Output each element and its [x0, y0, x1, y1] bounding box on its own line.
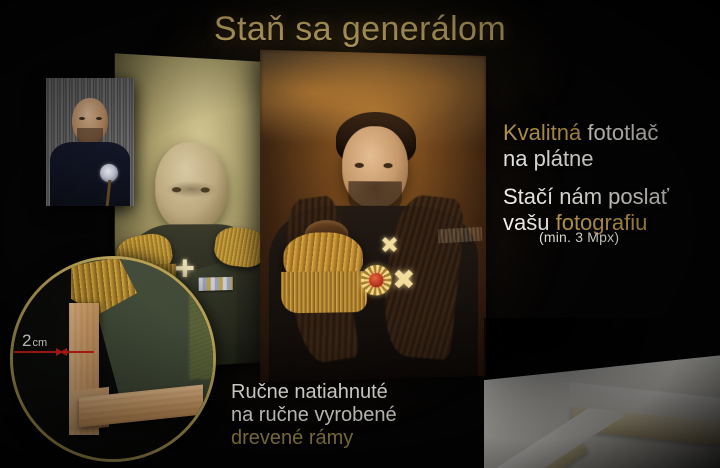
measurement-unit: cm — [32, 337, 47, 349]
source-photo-thumbnail — [46, 78, 134, 206]
measurement-value: 2 — [22, 331, 31, 350]
canvas-one-eye-right — [201, 187, 210, 192]
magnifier-foliage-detail — [189, 259, 216, 379]
feature-frame-line2: na ručne vyrobené — [231, 404, 397, 426]
source-photo-shirt — [50, 142, 130, 206]
features-right-block: Kvalitná fototlač na plátne Stačí nám po… — [503, 120, 717, 245]
canvas-main-signature — [438, 227, 483, 244]
feature-frame-line1: Ručne natiahnuté — [231, 381, 388, 403]
measurement-arrowhead-left — [60, 348, 67, 356]
canvas-main-medal-star-center — [369, 273, 383, 287]
feature-frame-line3: drevené rámy — [231, 427, 353, 449]
promo-banner: 2cm Staň sa generálom Kvalitná fototlač … — [0, 0, 720, 468]
frame-detail-magnifier — [10, 256, 216, 462]
feature-print-quality-white: fototlač — [581, 120, 658, 145]
source-photo-eye-right — [96, 117, 102, 120]
feature-print-quality-gold: Kvalitná — [503, 120, 581, 145]
measurement-label: 2cm — [22, 332, 47, 349]
stretcher-bar-photo — [484, 318, 720, 468]
feature-print-quality: Kvalitná fototlač na plátne — [503, 120, 717, 171]
feature-send-photo: Stačí nám poslať vašu fotografiu — [503, 184, 717, 235]
features-bottom-block: Ručne natiahnuté na ručne vyrobené dreve… — [231, 381, 511, 450]
canvas-main-eye-right — [383, 163, 392, 168]
canvas-preview-main — [260, 50, 486, 383]
canvas-main-eye-left — [355, 163, 364, 168]
feature-send-photo-line1: Stačí nám poslať — [503, 184, 669, 209]
canvas-one-eye-left — [172, 187, 181, 192]
feature-print-quality-line2: na plátne — [503, 146, 594, 171]
canvas-main-epaulette-fringe — [281, 271, 367, 313]
page-title: Staň sa generálom — [0, 10, 720, 49]
source-photo-eye-left — [79, 117, 85, 120]
